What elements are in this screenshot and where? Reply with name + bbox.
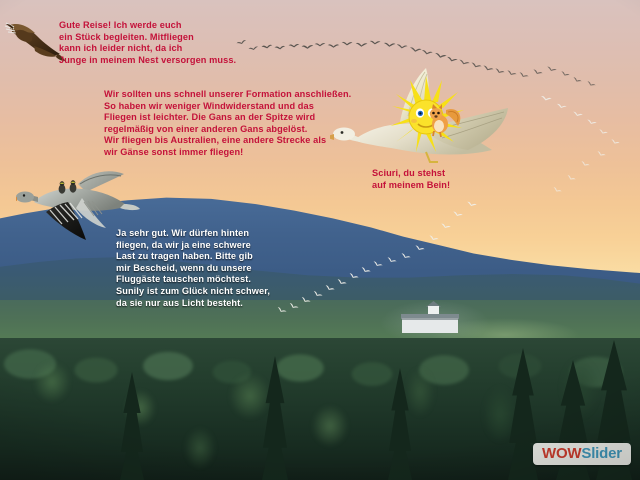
flock-bird	[383, 41, 396, 48]
flock-bird	[355, 42, 368, 49]
watermark-wow-text: WOW	[542, 445, 581, 462]
speech-text-eagle: Gute Reise! Ich werde euch ein Stück beg…	[59, 20, 289, 66]
eagle-bird-of-prey	[4, 16, 66, 66]
flock-bird	[288, 43, 300, 50]
flock-bird	[369, 40, 381, 47]
flock-bird	[327, 43, 340, 49]
speech-text-lead-goose: Wir sollten uns schnell unserer Formatio…	[104, 89, 394, 159]
speech-text-sun: Sciuri, du stehst auf meinem Bein!	[372, 168, 502, 191]
flock-bird	[341, 41, 353, 47]
scene-canvas: Gute Reise! Ich werde euch ein Stück beg…	[0, 0, 640, 480]
wowslider-watermark: WOWSlider	[533, 443, 631, 465]
speech-text-rear-goose: Ja sehr gut. Wir dürfen hinten fliegen, …	[116, 228, 316, 309]
flock-bird	[314, 42, 326, 48]
flock-bird	[301, 44, 314, 51]
watermark-slider-text: Slider	[581, 445, 621, 462]
